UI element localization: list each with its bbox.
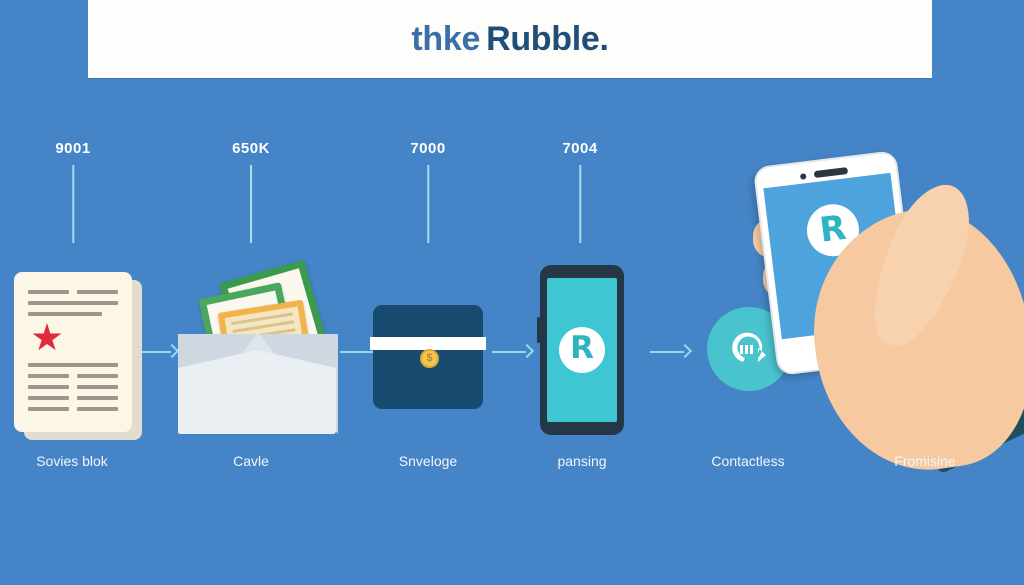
envelope-front-panel [178, 350, 336, 434]
step-caption-2: Cavle [233, 453, 269, 469]
earpiece-speaker [814, 167, 849, 178]
stat-tick-4: 7004 [562, 140, 597, 243]
step-caption-1: Sovies blok [36, 453, 108, 469]
wallet-coin-icon: $ [373, 305, 483, 409]
brand-logo-part2: Rubble. [486, 20, 609, 58]
hand-holding-phone-icon: R Call [735, 150, 1024, 585]
document-text-row [28, 290, 118, 301]
step-caption-4: pansing [557, 453, 606, 469]
phone-screen: R [547, 278, 617, 422]
front-camera-icon [800, 173, 807, 180]
document-front-page [14, 272, 132, 432]
phone-r-logo-icon: R [540, 265, 624, 435]
phone-side-button [537, 317, 540, 343]
stat-connector-line [72, 165, 74, 243]
arrow-head [165, 344, 179, 358]
step-caption-3: Snveloge [399, 453, 457, 469]
stat-value: 650K [232, 140, 270, 157]
brand-logo-part1: thke [411, 20, 480, 58]
arrow-head [520, 344, 534, 358]
stat-tick-2: 650K [232, 140, 270, 243]
header-bar: thkeRubble. [88, 0, 932, 78]
stat-value: 9001 [55, 140, 90, 157]
envelope-cards-icon [178, 268, 338, 440]
star-icon [32, 323, 62, 353]
stat-tick-1: 9001 [55, 140, 90, 243]
stat-value: 7004 [562, 140, 597, 157]
brand-logo: thkeRubble. [411, 20, 608, 59]
stat-connector-line [427, 165, 429, 243]
r-logo-icon: R [559, 327, 605, 373]
document-star-icon [14, 272, 146, 440]
arrow-head [678, 344, 692, 358]
flow-arrow-3 [492, 344, 532, 360]
infographic-canvas: thkeRubble. 9001 650K 7000 7004 [0, 0, 1024, 585]
step-caption-6: Fromisine [894, 453, 955, 469]
flow-arrow-4 [650, 344, 690, 360]
document-text-columns [28, 374, 118, 418]
coin-icon: $ [420, 349, 439, 368]
step-caption-5: Contactless [711, 453, 784, 469]
stat-tick-3: 7000 [410, 140, 445, 243]
stat-connector-line [250, 165, 252, 243]
stat-value: 7000 [410, 140, 445, 157]
stat-connector-line [579, 165, 581, 243]
